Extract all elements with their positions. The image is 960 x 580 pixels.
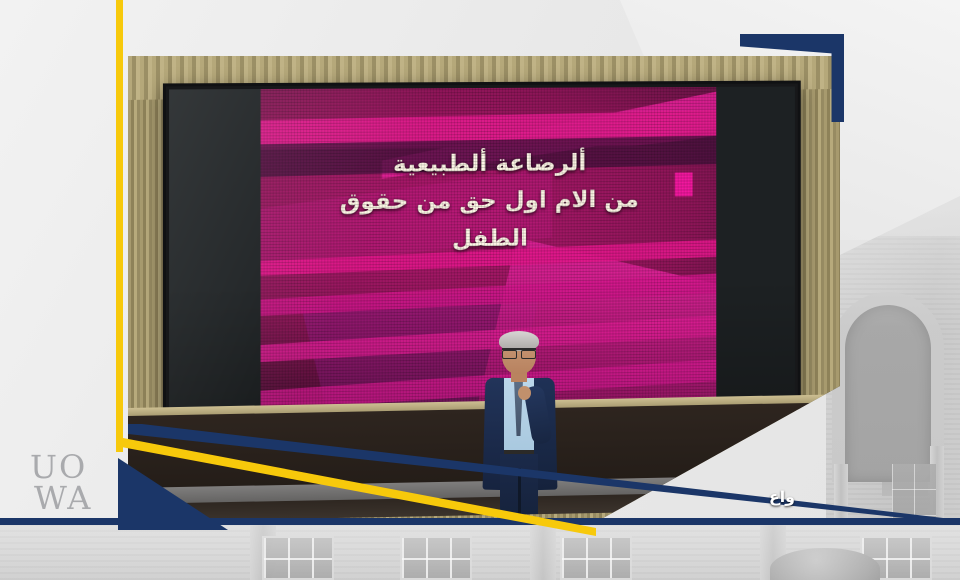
waa-agency-watermark: واع [744,486,820,508]
fade-overlay [0,524,960,580]
yellow-vertical-stripe [116,0,123,452]
waa-watermark-text: واع [769,490,795,505]
eyeglasses-icon [502,348,536,355]
banner-stage: ألرضاعة ألطبيعية من الام اول حق من حقوق … [0,0,960,580]
campus-architecture-photo-bottom [0,524,960,580]
uowa-logo-line-2: WA [34,483,92,514]
uowa-logo[interactable]: UO WA [30,452,92,515]
hand [518,386,531,400]
speaker-figure [476,334,562,514]
